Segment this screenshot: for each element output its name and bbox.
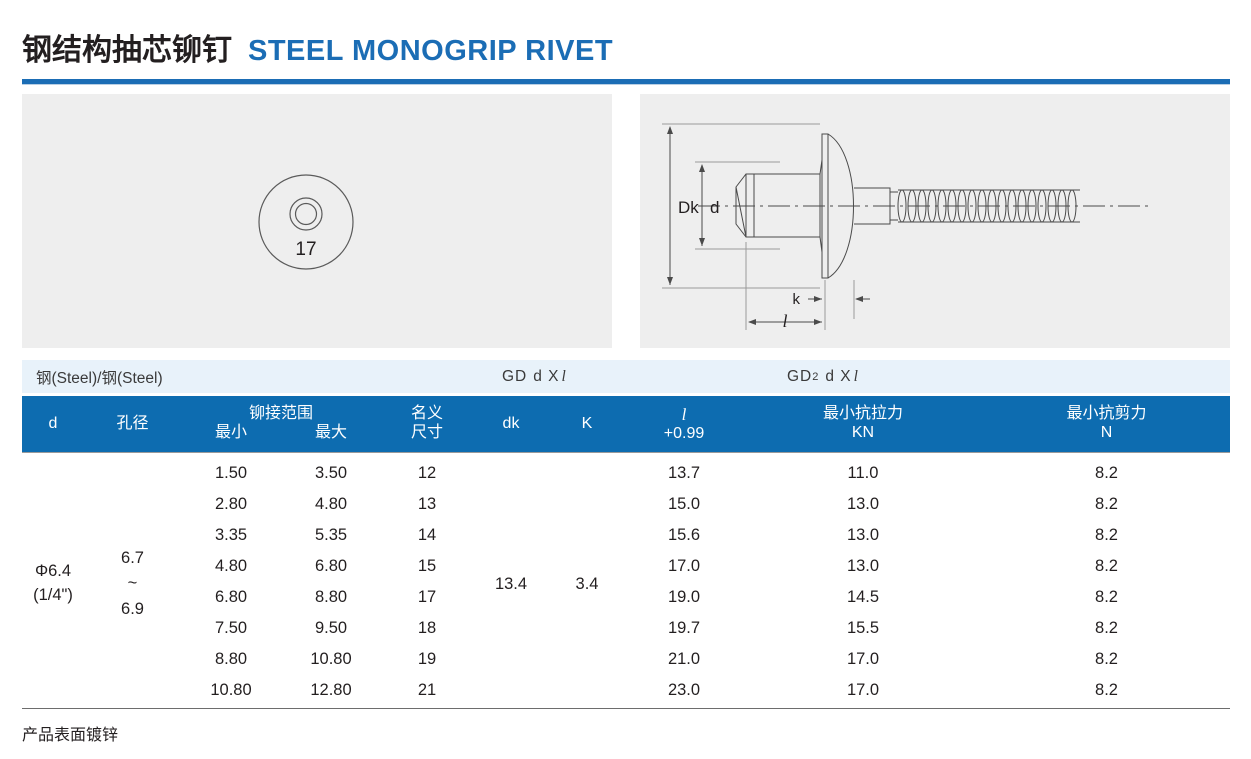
page-title-english: STEEL MONOGRIP RIVET (248, 37, 613, 66)
head-inner-circle (296, 204, 317, 225)
th-hole: 孔径 (84, 396, 181, 452)
table-row: 8.80 10.80 19 21.0 17.0 8.2 (22, 644, 1230, 675)
rivet-side-view-drawing: Dk d k l (640, 94, 1230, 348)
cell-shear: 8.2 (983, 520, 1230, 551)
th-grip-min: 铆接范围 最小 (181, 396, 281, 452)
cell-grip-min: 1.50 (181, 452, 281, 489)
head-marking-label: 17 (295, 239, 316, 260)
cell-shear: 8.2 (983, 675, 1230, 710)
dim-label-k: k (793, 291, 801, 308)
cell-nominal: 17 (381, 582, 473, 613)
table-row: 3.35 5.35 14 15.6 13.0 8.2 (22, 520, 1230, 551)
th-d: d (22, 396, 84, 452)
cell-l: 19.7 (625, 613, 743, 644)
cell-l: 15.0 (625, 489, 743, 520)
code-gd2-suffix: d X (819, 368, 851, 386)
code-gd2-prefix: GD (787, 368, 812, 386)
table-row: Φ6.4 (1/4") 6.7 ~ 6.9 1.50 3.50 12 13.4 … (22, 452, 1230, 489)
header-underline (22, 452, 1230, 453)
table-header-row: d 孔径 铆接范围 最小 最大 名义 尺寸 (22, 396, 1230, 452)
table-row: 2.80 4.80 13 15.0 13.0 8.2 (22, 489, 1230, 520)
th-k-label: K (549, 415, 625, 434)
cell-grip-max: 10.80 (281, 644, 381, 675)
cell-tensile: 17.0 (743, 644, 983, 675)
cell-hole-max: 6.9 (84, 597, 181, 623)
title-divider (22, 79, 1230, 84)
dim-label-dk: Dk (678, 198, 699, 217)
cell-k-merged: 3.4 (549, 452, 625, 710)
th-l: l +0.99 (625, 396, 743, 452)
head-top-view-drawing: 17 (22, 94, 612, 348)
cell-grip-max: 12.80 (281, 675, 381, 710)
cell-tensile: 13.0 (743, 520, 983, 551)
page-title-chinese: 钢结构抽芯铆钉 (22, 36, 232, 66)
cell-l: 19.0 (625, 582, 743, 613)
dim-label-d: d (710, 198, 719, 217)
table-bottom-rule (22, 708, 1230, 709)
cell-tensile: 13.0 (743, 551, 983, 582)
cell-hole-merged: 6.7 ~ 6.9 (84, 452, 181, 710)
th-l-tolerance: +0.99 (625, 425, 743, 444)
cell-nominal: 14 (381, 520, 473, 551)
cell-shear: 8.2 (983, 582, 1230, 613)
cell-nominal: 15 (381, 551, 473, 582)
th-shear-label-1: 最小抗剪力 (983, 405, 1230, 424)
cell-nominal: 18 (381, 613, 473, 644)
cell-grip-min: 8.80 (181, 644, 281, 675)
cell-nominal: 19 (381, 644, 473, 675)
cell-tensile: 17.0 (743, 675, 983, 710)
cell-hole-tilde: ~ (84, 571, 181, 597)
drawing-panel-head-view: 17 (22, 94, 612, 348)
cell-hole-min: 6.7 (84, 546, 181, 572)
th-nominal-label-2: 尺寸 (381, 424, 473, 443)
footnote: 产品表面镀锌 (22, 721, 118, 745)
code-gd-label: GD d X l (502, 360, 567, 393)
dim-label-l: l (782, 311, 787, 331)
cell-shear: 8.2 (983, 644, 1230, 675)
code-gd-italic-l: l (560, 368, 567, 386)
material-code-band: 钢(Steel)/钢(Steel) GD d X l GD2 d X l (22, 360, 1230, 393)
th-shear-label-2: N (983, 424, 1230, 443)
cell-shear: 8.2 (983, 452, 1230, 489)
cell-grip-min: 3.35 (181, 520, 281, 551)
th-tensile-label-2: KN (743, 424, 983, 443)
cell-grip-max: 9.50 (281, 613, 381, 644)
table-row: 6.80 8.80 17 19.0 14.5 8.2 (22, 582, 1230, 613)
cell-shear: 8.2 (983, 551, 1230, 582)
specification-table: d 孔径 铆接范围 最小 最大 名义 尺寸 (22, 396, 1230, 710)
page-title: 钢结构抽芯铆钉 STEEL MONOGRIP RIVET (22, 36, 613, 66)
th-shear: 最小抗剪力 N (983, 396, 1230, 452)
th-tensile: 最小抗拉力 KN (743, 396, 983, 452)
th-l-symbol: l (625, 405, 743, 425)
cell-d-inch: (1/4") (22, 584, 84, 608)
cell-l: 17.0 (625, 551, 743, 582)
cell-shear: 8.2 (983, 489, 1230, 520)
spec-sheet-page: 钢结构抽芯铆钉 STEEL MONOGRIP RIVET 17 (0, 0, 1251, 759)
cell-l: 13.7 (625, 452, 743, 489)
cell-l: 23.0 (625, 675, 743, 710)
specification-table-wrapper: d 孔径 铆接范围 最小 最大 名义 尺寸 (22, 396, 1230, 710)
cell-grip-min: 6.80 (181, 582, 281, 613)
cell-nominal: 12 (381, 452, 473, 489)
cell-tensile: 15.5 (743, 613, 983, 644)
cell-tensile: 13.0 (743, 489, 983, 520)
cell-grip-max: 4.80 (281, 489, 381, 520)
table-row: 10.80 12.80 21 23.0 17.0 8.2 (22, 675, 1230, 710)
cell-dk-merged: 13.4 (473, 452, 549, 710)
cell-grip-max: 8.80 (281, 582, 381, 613)
head-middle-circle (290, 198, 322, 230)
cell-grip-max: 6.80 (281, 551, 381, 582)
code-gd-prefix: GD (502, 368, 527, 386)
table-row: 4.80 6.80 15 17.0 13.0 8.2 (22, 551, 1230, 582)
th-grip-group-label: 铆接范围 (231, 405, 331, 424)
th-grip-max-label: 最大 (281, 424, 381, 443)
cell-nominal: 13 (381, 489, 473, 520)
cell-grip-min: 7.50 (181, 613, 281, 644)
cell-grip-max: 5.35 (281, 520, 381, 551)
cell-grip-max: 3.50 (281, 452, 381, 489)
th-k: K (549, 396, 625, 452)
th-dk: dk (473, 396, 549, 452)
cell-grip-min: 10.80 (181, 675, 281, 710)
cell-grip-min: 2.80 (181, 489, 281, 520)
th-hole-label: 孔径 (84, 415, 181, 434)
cell-l: 21.0 (625, 644, 743, 675)
cell-grip-min: 4.80 (181, 551, 281, 582)
table-body: Φ6.4 (1/4") 6.7 ~ 6.9 1.50 3.50 12 13.4 … (22, 452, 1230, 710)
th-tensile-label-1: 最小抗拉力 (743, 405, 983, 424)
th-d-label: d (22, 415, 84, 434)
rivet-sleeve-body (736, 174, 820, 237)
th-nominal-label-1: 名义 (381, 405, 473, 424)
cell-nominal: 21 (381, 675, 473, 710)
code-gd-suffix: d X (527, 368, 559, 386)
code-gd2-italic-l: l (852, 368, 859, 386)
cell-d-value: Φ6.4 (22, 560, 84, 584)
th-grip-min-label: 最小 (181, 424, 281, 443)
cell-shear: 8.2 (983, 613, 1230, 644)
th-nominal: 名义 尺寸 (381, 396, 473, 452)
code-gd2-label: GD2 d X l (787, 360, 859, 393)
th-dk-label: dk (473, 415, 549, 434)
code-gd2-subscript: 2 (812, 371, 819, 383)
cell-l: 15.6 (625, 520, 743, 551)
cell-tensile: 11.0 (743, 452, 983, 489)
cell-tensile: 14.5 (743, 582, 983, 613)
drawing-panel-side-view: Dk d k l (640, 94, 1230, 348)
cell-d-merged: Φ6.4 (1/4") (22, 452, 84, 710)
material-label: 钢(Steel)/钢(Steel) (36, 360, 163, 393)
table-row: 7.50 9.50 18 19.7 15.5 8.2 (22, 613, 1230, 644)
